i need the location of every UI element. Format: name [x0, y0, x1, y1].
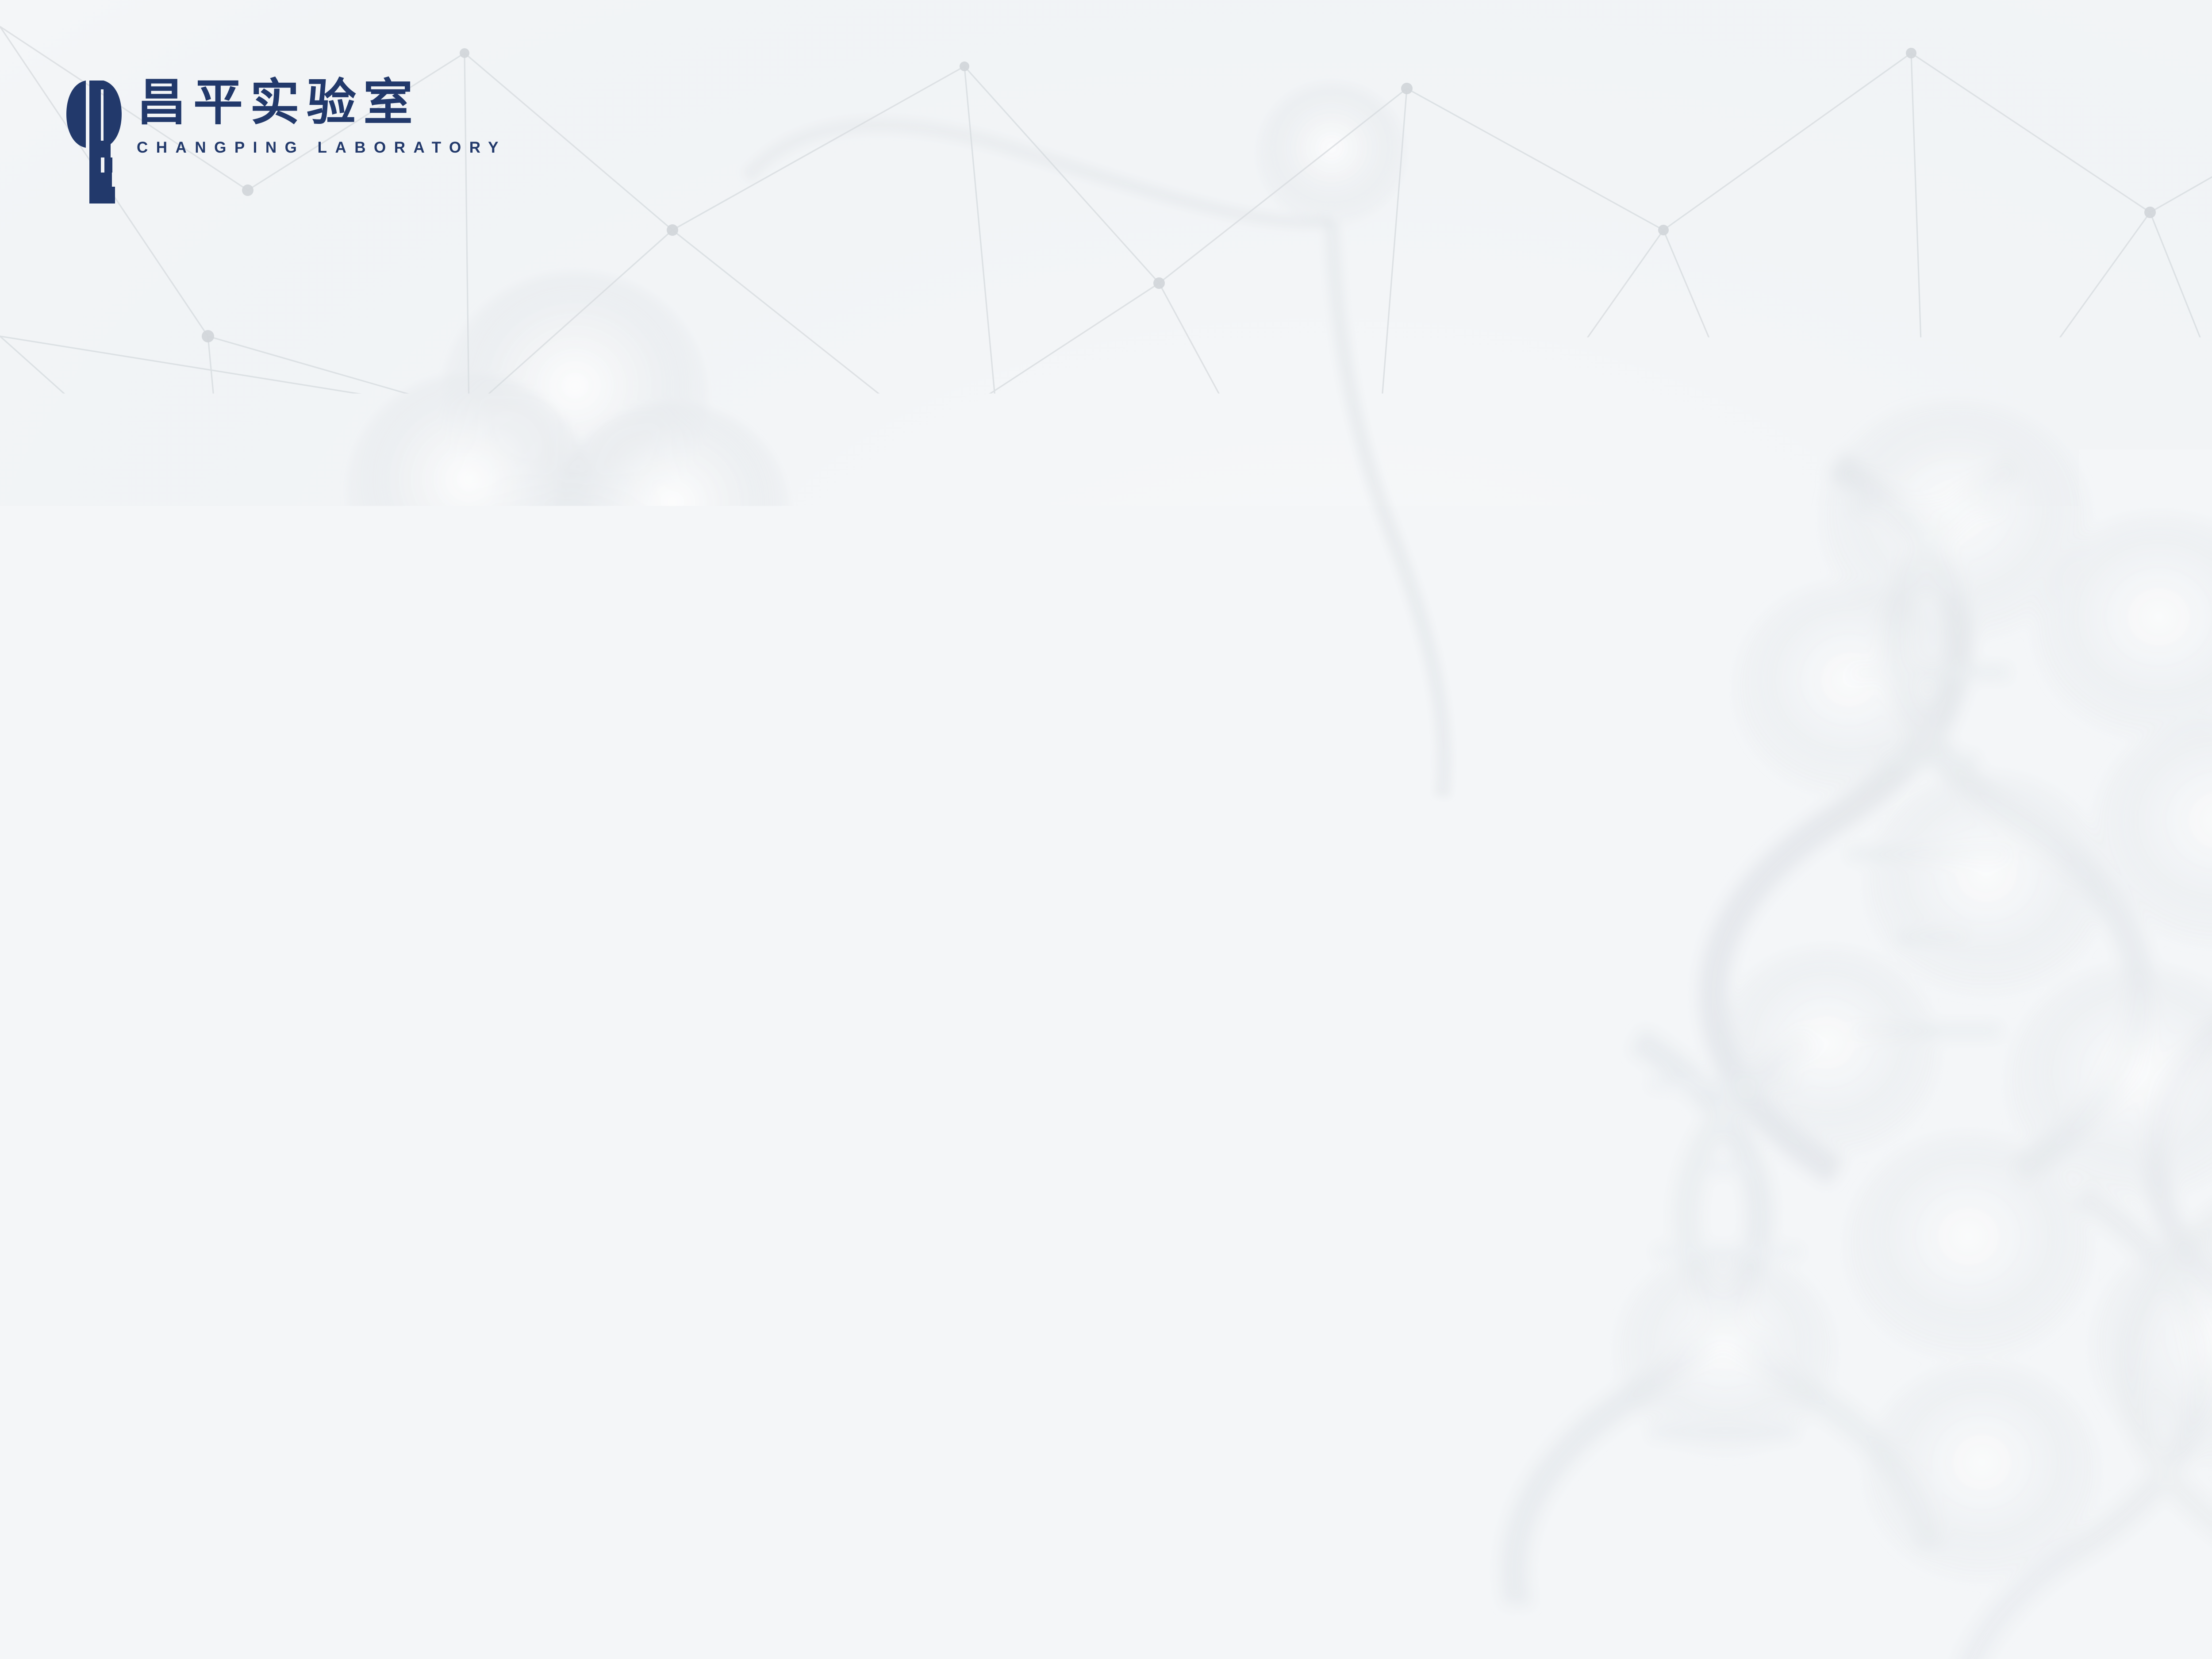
headline-cn: 学术讲座 — [71, 571, 575, 681]
poster-slide: 昌平实验室 CHANGPING LABORATORY 学术讲座 Epigenet… — [0, 0, 2212, 1659]
orange-footer-bar — [0, 1509, 2212, 1659]
event-date: 2025/12/26 — [91, 1252, 305, 1301]
changping-laboratory-logo: 昌平实验室 CHANGPING LABORATORY — [66, 71, 507, 204]
changping-monogram-icon — [66, 71, 122, 204]
subtitle-en: Epigenetic Reprogramming in Brain Repair… — [110, 843, 1672, 909]
logo-name-en: CHANGPING LABORATORY — [137, 139, 507, 157]
logo-name-cn: 昌平实验室 — [137, 78, 507, 127]
headline-block: 学术讲座 — [71, 571, 559, 681]
logo-wordmark: 昌平实验室 CHANGPING LABORATORY — [137, 71, 507, 157]
